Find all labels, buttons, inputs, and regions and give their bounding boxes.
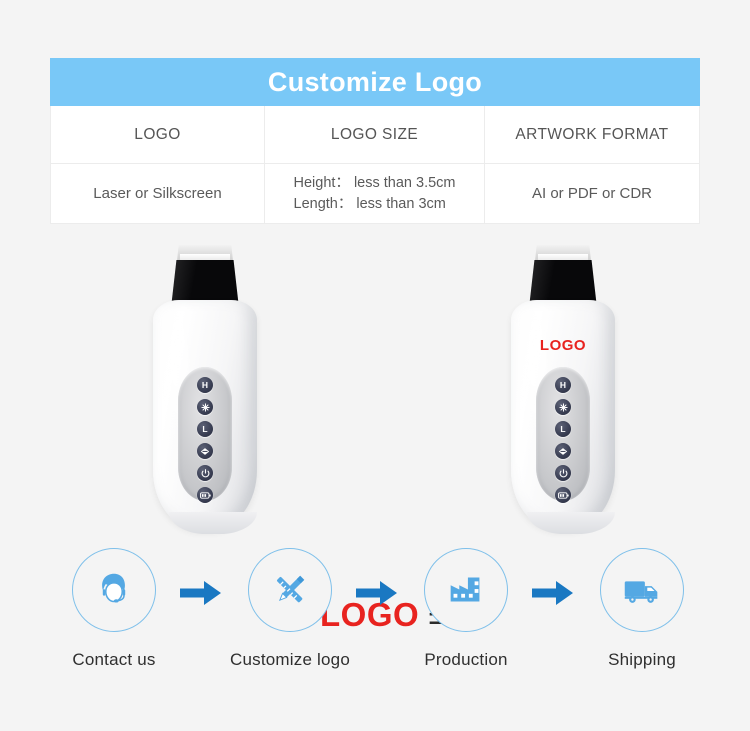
process-flow: Contact us [0, 548, 750, 688]
table-header-row: LOGO LOGO SIZE ARTWORK FORMAT [50, 106, 700, 164]
button-level-icon [555, 443, 571, 459]
factory-icon [443, 567, 489, 613]
button-low: L [197, 421, 213, 437]
process-step-customize-logo: Customize logo [215, 548, 365, 670]
shipping-circle [600, 548, 684, 632]
button-power-icon [555, 465, 571, 481]
process-step-production: Production [391, 548, 541, 670]
device-branded: LOGO H L [503, 245, 623, 530]
table-header-logo-size: LOGO SIZE [265, 106, 485, 163]
button-pad: H L [178, 367, 232, 501]
cell-logo-size: Height： less than 3.5cm Length： less tha… [265, 164, 485, 223]
button-mode-icon [197, 399, 213, 415]
table-header-artwork-format: ARTWORK FORMAT [485, 106, 699, 163]
customize-logo-circle [248, 548, 332, 632]
spatula-blade [535, 245, 591, 261]
device-base [527, 512, 615, 534]
step-label: Contact us [39, 650, 189, 670]
logo-size-length: Length： less than 3cm [294, 194, 456, 215]
button-pad: H L [536, 367, 590, 501]
delivery-truck-icon [619, 567, 665, 613]
cell-logo-method: Laser or Silkscreen [51, 164, 265, 223]
contact-us-circle [72, 548, 156, 632]
button-battery-icon [555, 487, 571, 503]
step-label: Customize logo [215, 650, 365, 670]
production-circle [424, 548, 508, 632]
step-label: Production [391, 650, 541, 670]
button-level-icon [197, 443, 213, 459]
spatula-blade [177, 245, 233, 261]
device-plain: H L [145, 245, 265, 530]
process-step-shipping: Shipping [567, 548, 717, 670]
process-step-contact-us: Contact us [39, 548, 189, 670]
customize-logo-table: Customize Logo LOGO LOGO SIZE ARTWORK FO… [50, 58, 700, 224]
button-low: L [555, 421, 571, 437]
button-mode-icon [555, 399, 571, 415]
table-title: Customize Logo [50, 58, 700, 106]
cell-artwork-format: AI or PDF or CDR [485, 164, 699, 223]
headset-operator-icon [91, 567, 137, 613]
logo-size-height: Height： less than 3.5cm [294, 173, 456, 194]
button-power-icon [197, 465, 213, 481]
printed-logo: LOGO [503, 337, 623, 354]
table-body-row: Laser or Silkscreen Height： less than 3.… [50, 164, 700, 224]
device-base [169, 512, 257, 534]
button-high: H [197, 377, 213, 393]
step-label: Shipping [567, 650, 717, 670]
table-header-logo: LOGO [51, 106, 265, 163]
button-battery-icon [197, 487, 213, 503]
button-high: H [555, 377, 571, 393]
product-showcase: H L [0, 240, 750, 540]
pencil-ruler-icon [267, 567, 313, 613]
